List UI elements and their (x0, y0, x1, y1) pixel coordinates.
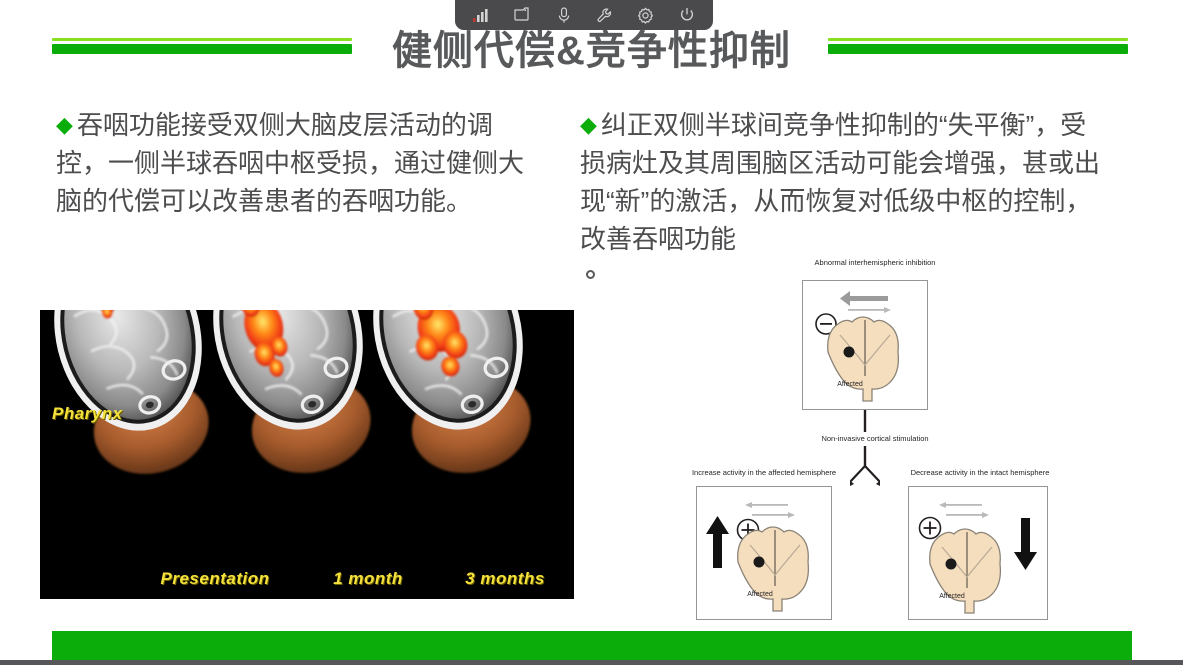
lesion-marker (754, 557, 765, 568)
sub-bullet-circle-icon (586, 270, 595, 279)
signal-bars-icon[interactable] (469, 4, 495, 26)
brain-coronal-section: Affected (828, 317, 899, 401)
top-panel-label: Abnormal interhemispheric inhibition (738, 258, 1012, 268)
lesion-marker (844, 347, 855, 358)
gear-icon[interactable] (633, 4, 659, 26)
power-icon[interactable] (674, 4, 700, 26)
bullet-right: ◆纠正双侧半球间竞争性抑制的“失平衡”，受损病灶及其周围脑区活动可能会增强，甚或… (580, 106, 1110, 258)
bottom-right-panel-label: Decrease activity in the intact hemisphe… (885, 468, 1075, 478)
plus-sign-icon (920, 518, 941, 539)
lesion-marker (946, 559, 957, 570)
bullet-right-text: 纠正双侧半球间竞争性抑制的“失平衡”，受损病灶及其周围脑区活动可能会增强，甚或出… (580, 110, 1100, 254)
bottom-left-panel-diagram: Affected (696, 486, 832, 620)
bullet-left: ◆吞咽功能接受双侧大脑皮层活动的调控，一侧半球吞咽中枢受损，通过健侧大脑的代偿可… (56, 106, 526, 220)
inhibition-arrow-left (840, 291, 888, 306)
window-bottom-edge (0, 660, 1183, 665)
bottom-right-panel-diagram: Affected (908, 486, 1048, 620)
brain-coronal-section: Affected (738, 527, 809, 611)
interhemispheric-schematic: Abnormal interhemispheric inhibition Aff… (660, 258, 1090, 630)
middle-stimulation-label: Non-invasive cortical stimulation (775, 434, 975, 443)
footer-bar (52, 631, 1132, 660)
bullet-left-text: 吞咽功能接受双侧大脑皮层活动的调控，一侧半球吞咽中枢受损，通过健侧大脑的代偿可以… (56, 110, 524, 216)
bullet-diamond-icon: ◆ (580, 112, 597, 137)
decrease-arrow-down (1014, 518, 1037, 570)
increase-arrow-up (706, 516, 729, 568)
brain-coronal-section: Affected (930, 529, 1001, 613)
scan-caption-presentation: Presentation (140, 569, 290, 589)
bullet-diamond-icon: ◆ (56, 112, 73, 137)
top-panel-diagram: Affected (802, 280, 928, 410)
inhibition-arrow-right (848, 307, 891, 313)
affected-label: Affected (747, 591, 773, 598)
fmri-brain-figure: Pharynx Presentation 1 month 3 months (40, 310, 574, 599)
pharynx-label: Pharynx (52, 404, 123, 424)
scan-caption-1-month: 1 month (308, 569, 428, 589)
microphone-icon[interactable] (551, 4, 577, 26)
screen-share-icon[interactable] (510, 4, 536, 26)
bottom-left-panel-label: Increase activity in the affected hemisp… (674, 468, 854, 478)
affected-label: Affected (939, 593, 965, 600)
scan-caption-3-months: 3 months (440, 569, 570, 589)
schematic-connectors (850, 410, 880, 488)
affected-label: Affected (837, 381, 863, 388)
wrench-icon[interactable] (592, 4, 618, 26)
device-toolbar (455, 0, 713, 30)
page-title: 健侧代偿&竞争性抑制 (0, 28, 1183, 74)
fmri-brain-svg (40, 310, 574, 599)
